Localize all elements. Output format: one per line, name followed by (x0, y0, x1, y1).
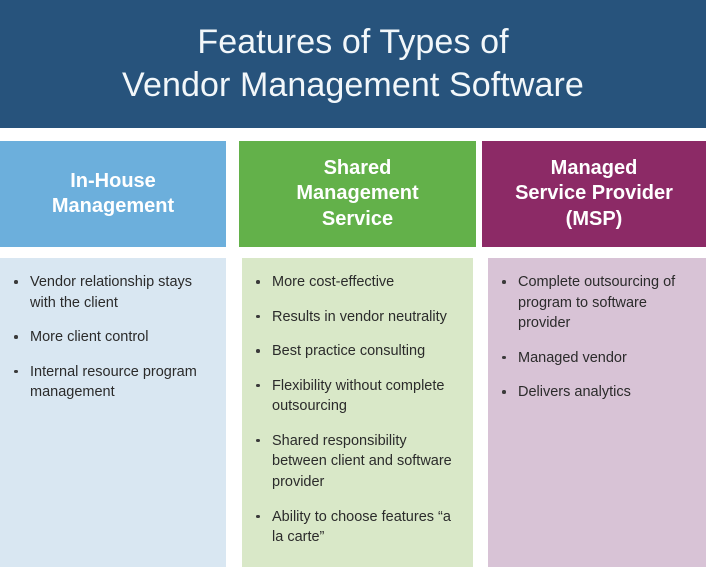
bullet-dot-icon (256, 515, 260, 519)
column-header-label: Managed Service Provider (MSP) (515, 156, 673, 232)
column-in-house-management: In-House Management Vendor relationship … (0, 141, 226, 567)
list-item: More cost-effective (252, 272, 461, 293)
bullet-list: Complete outsourcing of program to softw… (498, 272, 694, 403)
column-header-label: Shared Management Service (296, 156, 418, 232)
list-item-label: Flexibility without complete outsourcing (272, 376, 461, 417)
column-header-in-house-management: In-House Management (0, 141, 226, 247)
bullet-dot-icon (14, 370, 18, 374)
column-body-managed-service-provider: Complete outsourcing of program to softw… (488, 258, 706, 567)
list-item-label: Delivers analytics (518, 382, 694, 403)
page-title: Features of Types of Vendor Management S… (98, 21, 608, 107)
list-item-label: Managed vendor (518, 348, 694, 369)
list-item-label: Ability to choose features “a la carte” (272, 507, 461, 548)
title-banner: Features of Types of Vendor Management S… (0, 0, 706, 128)
list-item: Complete outsourcing of program to softw… (498, 272, 694, 334)
bullet-dot-icon (256, 315, 260, 319)
bullet-dot-icon (14, 335, 18, 339)
bullet-dot-icon (256, 349, 260, 353)
bullet-dot-icon (256, 280, 260, 284)
list-item: Best practice consulting (252, 341, 461, 362)
bullet-list: More cost-effective Results in vendor ne… (252, 272, 461, 548)
column-body-in-house-management: Vendor relationship stays with the clien… (0, 258, 226, 567)
list-item-label: Internal resource program management (30, 362, 214, 403)
list-item-label: Shared responsibility between client and… (272, 431, 461, 493)
list-item-label: Best practice consulting (272, 341, 461, 362)
list-item-label: Vendor relationship stays with the clien… (30, 272, 214, 313)
list-item: More client control (10, 327, 214, 348)
columns-container: In-House Management Vendor relationship … (0, 141, 706, 567)
column-header-shared-management-service: Shared Management Service (239, 141, 476, 247)
list-item: Internal resource program management (10, 362, 214, 403)
bullet-dot-icon (502, 356, 506, 360)
bullet-dot-icon (502, 390, 506, 394)
list-item: Shared responsibility between client and… (252, 431, 461, 493)
list-item-label: More cost-effective (272, 272, 461, 293)
column-managed-service-provider: Managed Service Provider (MSP) Complete … (482, 141, 706, 567)
bullet-list: Vendor relationship stays with the clien… (10, 272, 214, 403)
list-item: Managed vendor (498, 348, 694, 369)
list-item-label: Complete outsourcing of program to softw… (518, 272, 694, 334)
list-item: Results in vendor neutrality (252, 307, 461, 328)
list-item: Vendor relationship stays with the clien… (10, 272, 214, 313)
bullet-dot-icon (256, 439, 260, 443)
bullet-dot-icon (256, 384, 260, 388)
list-item: Ability to choose features “a la carte” (252, 507, 461, 548)
list-item: Flexibility without complete outsourcing (252, 376, 461, 417)
column-shared-management-service: Shared Management Service More cost-effe… (239, 141, 476, 567)
list-item-label: More client control (30, 327, 214, 348)
column-header-managed-service-provider: Managed Service Provider (MSP) (482, 141, 706, 247)
bullet-dot-icon (502, 280, 506, 284)
column-body-shared-management-service: More cost-effective Results in vendor ne… (242, 258, 473, 567)
bullet-dot-icon (14, 280, 18, 284)
infographic-root: Features of Types of Vendor Management S… (0, 0, 706, 567)
column-header-label: In-House Management (52, 169, 174, 219)
list-item: Delivers analytics (498, 382, 694, 403)
list-item-label: Results in vendor neutrality (272, 307, 461, 328)
